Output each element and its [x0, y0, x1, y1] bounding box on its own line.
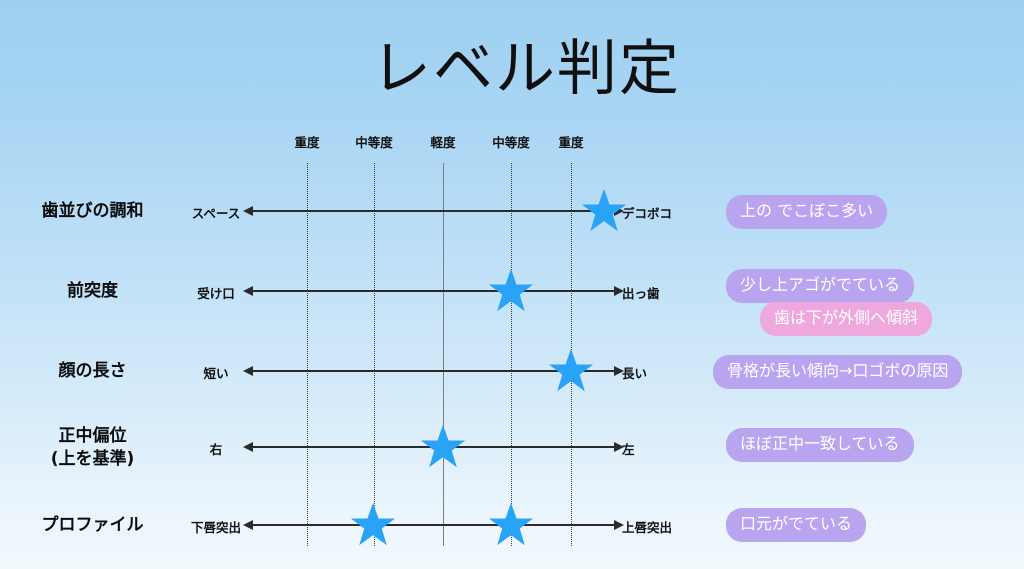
- row-title-1: 前突度: [0, 280, 185, 303]
- axis-line-3: [252, 446, 615, 448]
- axis-line-4: [252, 524, 615, 526]
- comment-chip: 上の でこぼこ多い: [726, 195, 887, 229]
- scale-header-3: 中等度: [492, 132, 530, 151]
- comment-chip: 少し上アゴがでている: [726, 269, 914, 303]
- row-title-3: 正中偏位(上を基準): [0, 425, 185, 471]
- scale-header-2: 軽度: [430, 132, 455, 151]
- page-title: レベル判定: [0, 38, 1024, 101]
- arrow-left-icon: [243, 286, 253, 296]
- row-title-0: 歯並びの調和: [0, 200, 185, 223]
- grid-line-3: [511, 163, 512, 546]
- comment-chip: ほぼ正中一致している: [726, 428, 914, 462]
- comment-chip: 口元がでている: [726, 508, 866, 542]
- row-right-label-1: 出っ歯: [622, 283, 660, 302]
- row-title-2: 顔の長さ: [0, 360, 185, 383]
- slide-canvas: レベル判定 重度中等度軽度中等度重度 歯並びの調和スペースデコボコ前突度受け口出…: [0, 0, 1024, 569]
- scale-header-0: 重度: [294, 132, 319, 151]
- row-right-label-2: 長い: [622, 363, 647, 382]
- arrow-left-icon: [243, 366, 253, 376]
- comment-chip: 歯は下が外側へ傾斜: [760, 302, 932, 336]
- grid-line-4: [571, 163, 572, 546]
- row-right-label-4: 上唇突出: [622, 517, 672, 536]
- row-right-label-0: デコボコ: [622, 203, 672, 222]
- row-title-4: プロファイル: [0, 514, 185, 537]
- axis-line-1: [252, 290, 615, 292]
- grid-line-0: [307, 163, 308, 546]
- grid-line-2: [443, 163, 444, 546]
- comment-chip: 骨格が長い傾向→口ゴボの原因: [713, 355, 962, 389]
- scale-header-4: 重度: [558, 132, 583, 151]
- row-right-label-3: 左: [622, 439, 635, 458]
- arrow-left-icon: [243, 520, 253, 530]
- row-title-line1: 正中偏位: [0, 425, 185, 448]
- axis-line-0: [252, 210, 615, 212]
- row-title-line2: (上を基準): [0, 448, 185, 471]
- scale-header-1: 中等度: [355, 132, 393, 151]
- arrow-left-icon: [243, 442, 253, 452]
- grid-line-1: [374, 163, 375, 546]
- arrow-left-icon: [243, 206, 253, 216]
- axis-line-2: [252, 370, 615, 372]
